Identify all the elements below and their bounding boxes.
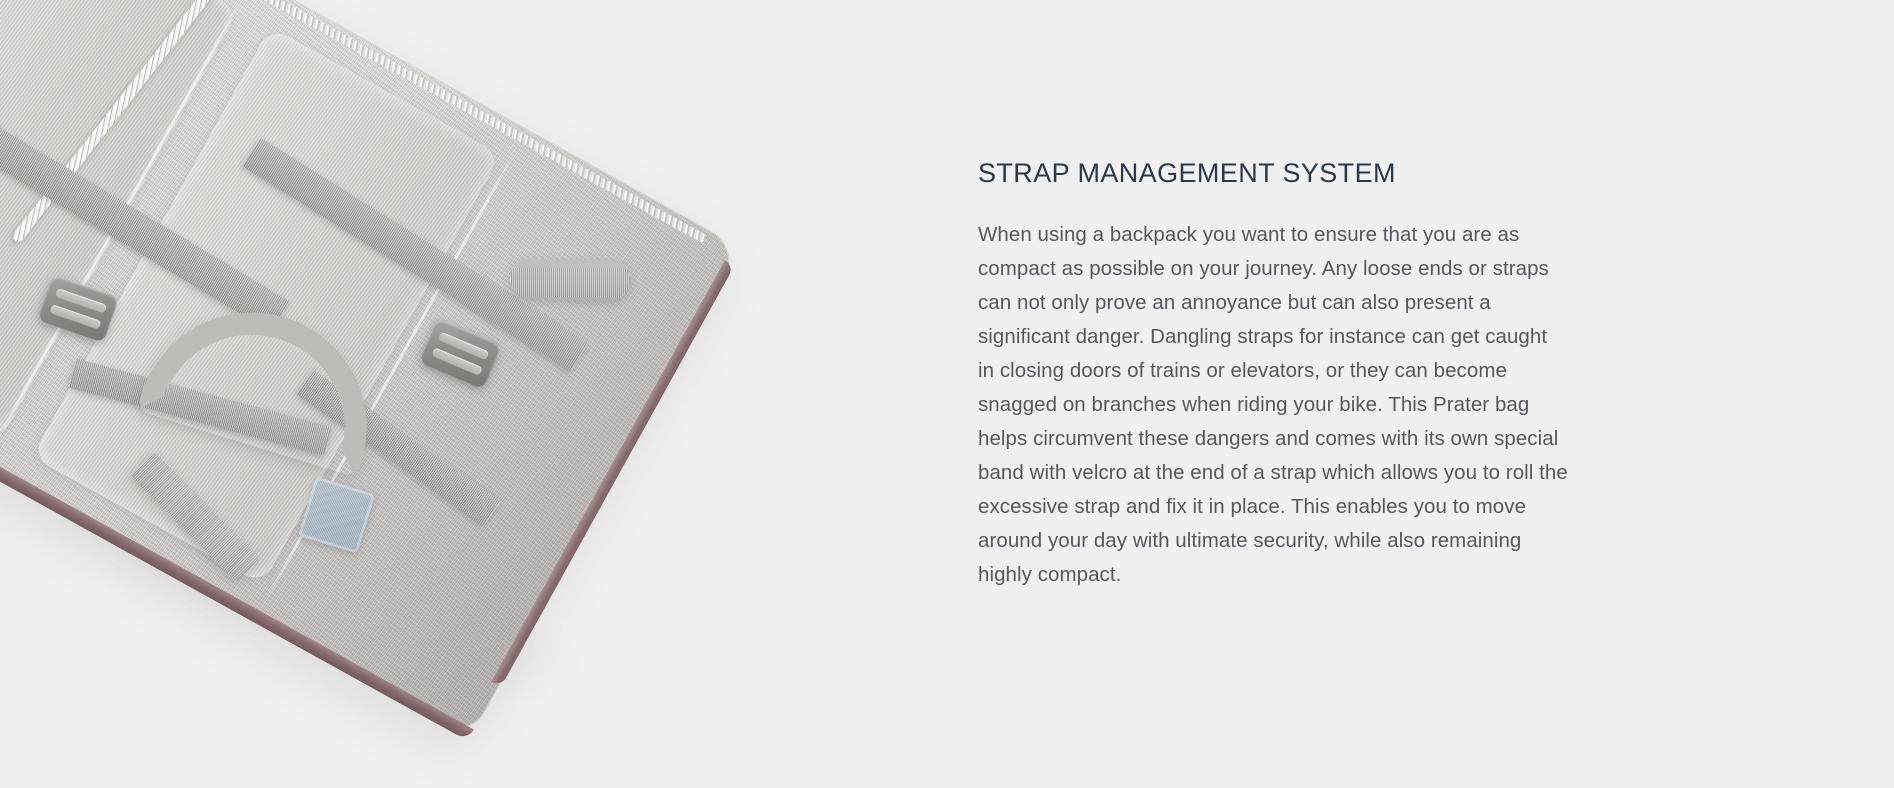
feature-description: When using a backpack you want to ensure… — [978, 218, 1568, 592]
ladder-lock-buckle — [419, 318, 502, 390]
product-image — [0, 0, 790, 788]
feature-copy-column: STRAP MANAGEMENT SYSTEM When using a bac… — [978, 0, 1598, 788]
product-photo-stage — [0, 0, 790, 788]
strap-management-feature-section: STRAP MANAGEMENT SYSTEM When using a bac… — [0, 0, 1894, 788]
backpack-body — [0, 0, 741, 738]
page-title: STRAP MANAGEMENT SYSTEM — [978, 156, 1598, 190]
strap-tail — [510, 258, 631, 300]
